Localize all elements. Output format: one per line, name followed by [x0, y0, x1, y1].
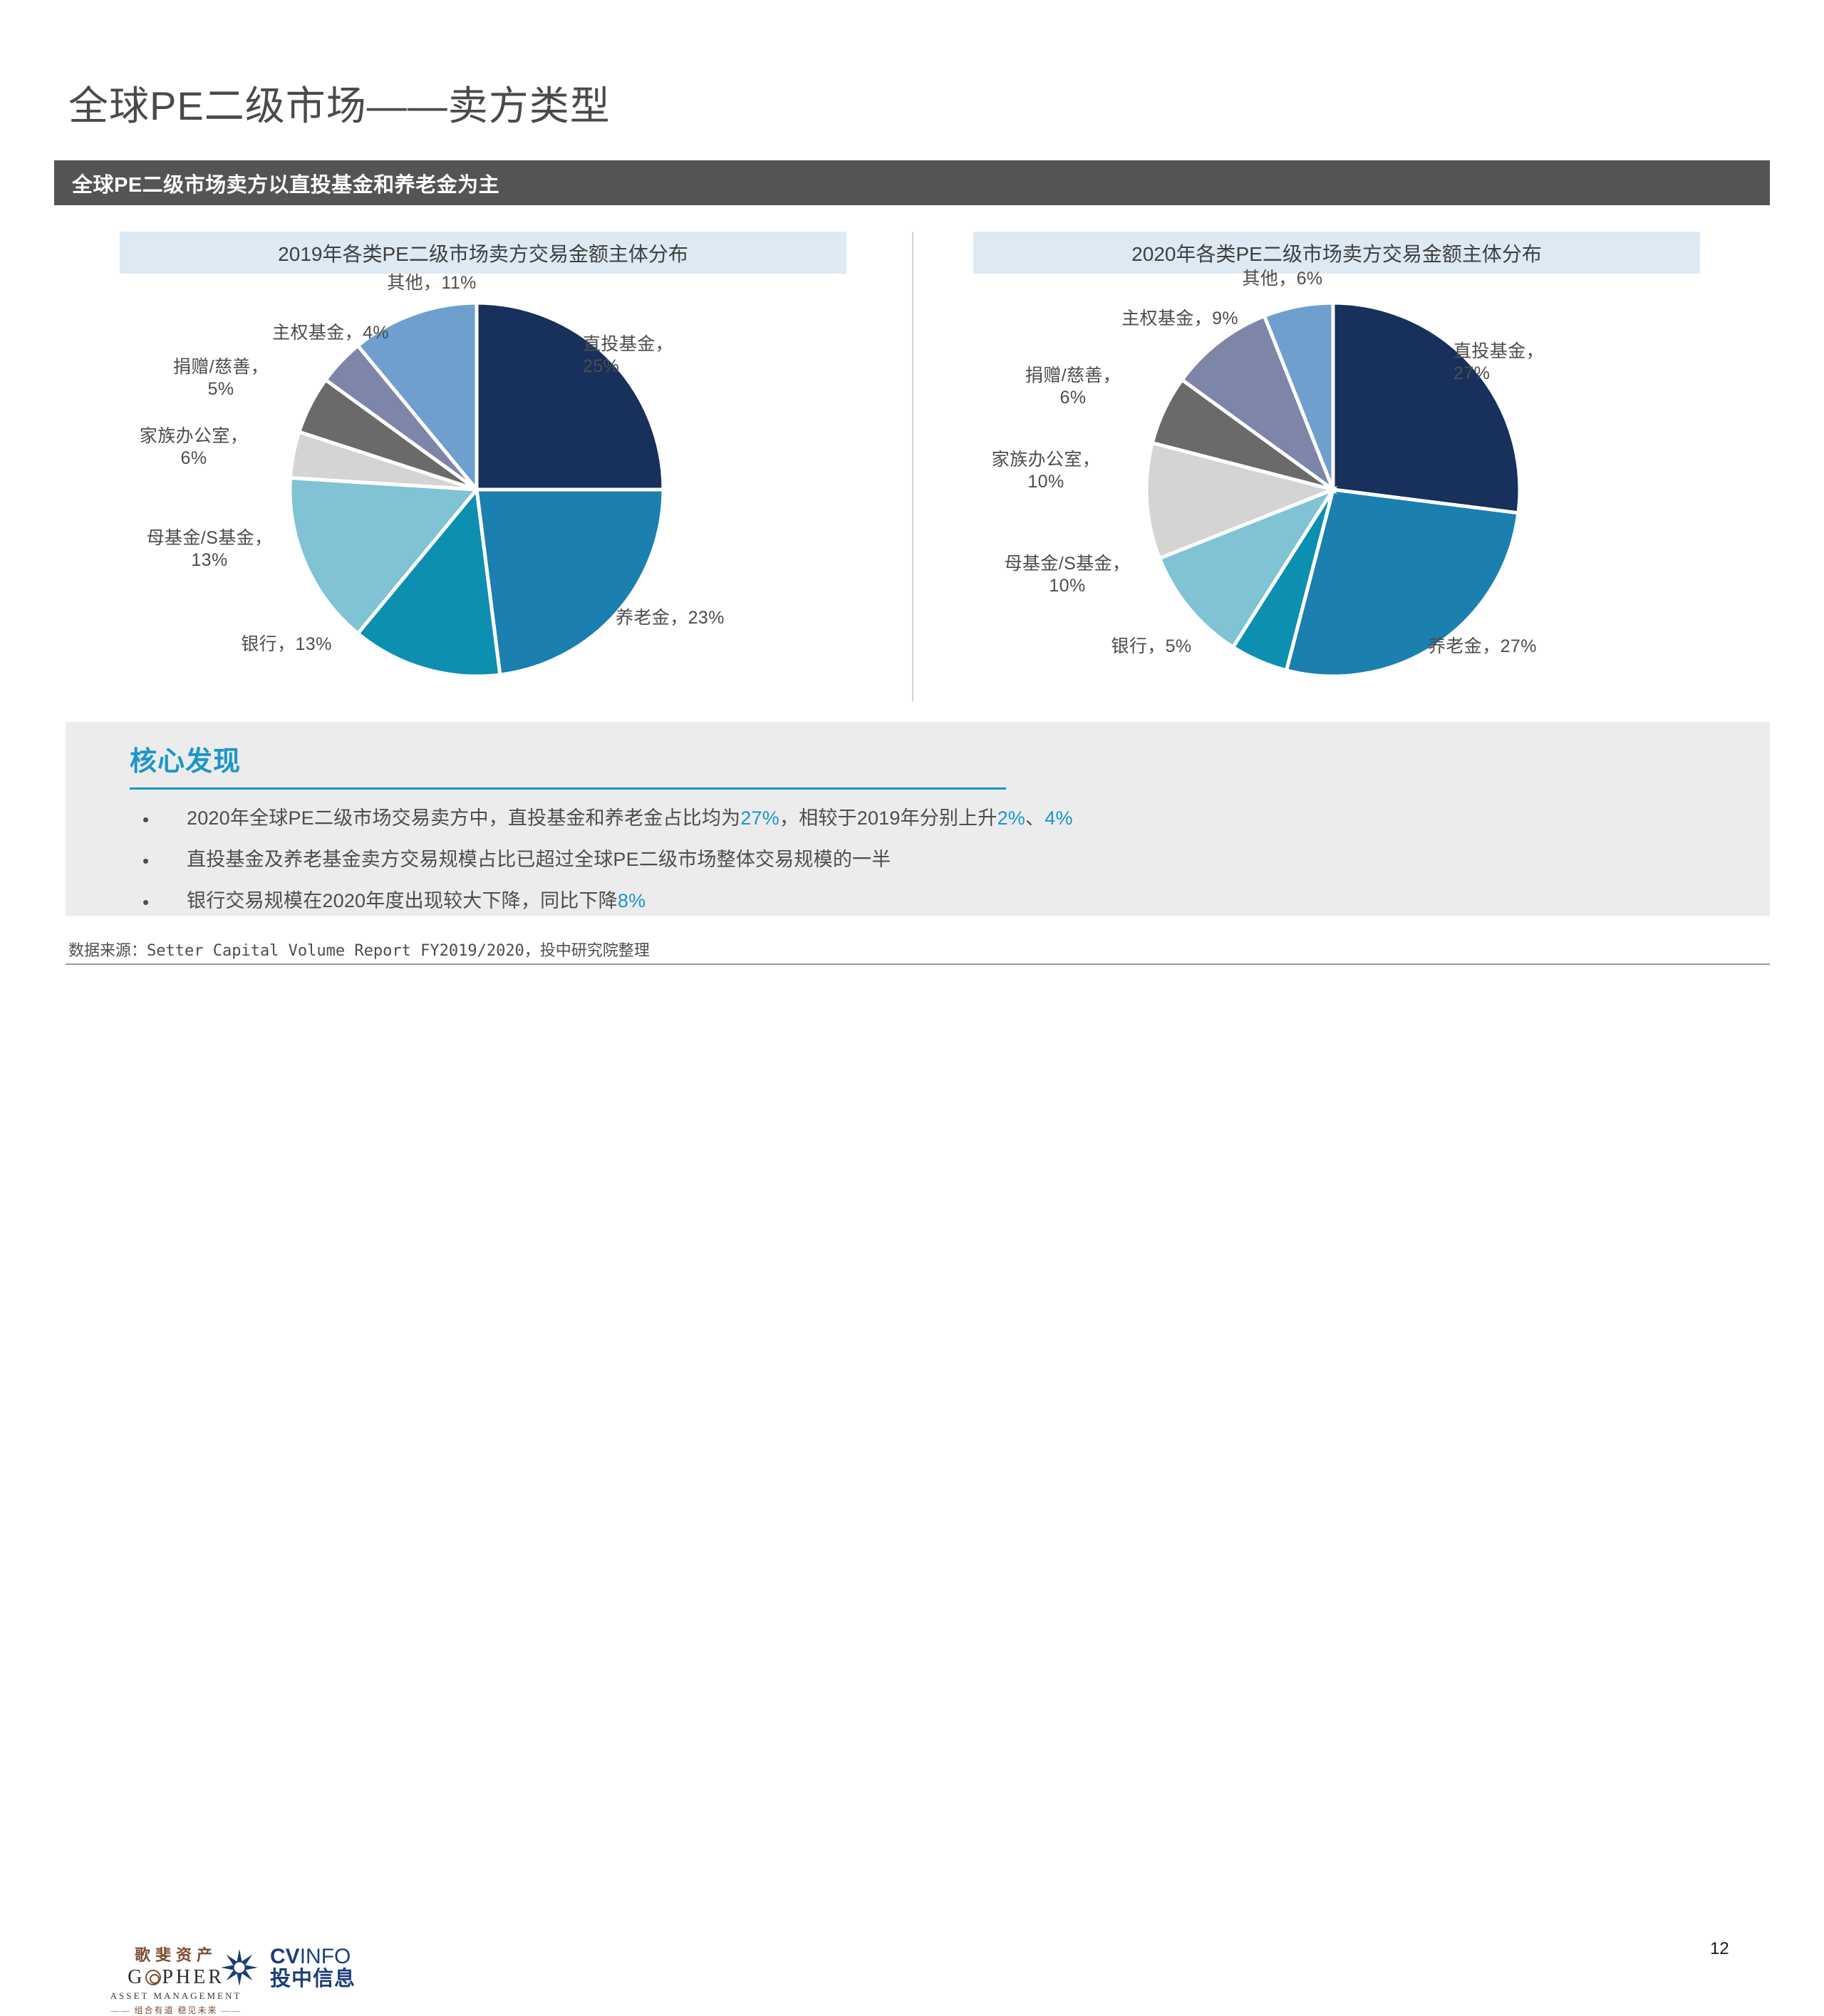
highlight-value: 2%	[997, 807, 1025, 829]
gopher-logo-en-before: G	[128, 1966, 145, 1989]
findings-bullet-item: •2020年全球PE二级市场交易卖方中，直投基金和养老金占比均为27%，相较于2…	[142, 806, 1731, 847]
pie-label-2020-direct: 直投基金， 27%	[1453, 341, 1667, 386]
pie-label-2019-sovereign: 主权基金，4%	[104, 322, 389, 344]
source-divider	[66, 963, 1770, 965]
pie-slice-direct	[1333, 303, 1520, 513]
charts-container: 2019年各类PE二级市场卖方交易金额主体分布	[54, 232, 1770, 716]
chart-2020: 2020年各类PE二级市场卖方交易金额主体分布	[925, 232, 1770, 716]
pie-label-2019-fof: 母基金/S基金， 13%	[88, 527, 331, 572]
findings-underline	[130, 787, 1006, 790]
pie-label-2020-bank: 银行，5%	[1052, 636, 1251, 658]
subtitle-band: 全球PE二级市场卖方以直投基金和养老金为主	[54, 160, 1770, 205]
chart-2019: 2019年各类PE二级市场卖方交易金额主体分布	[54, 232, 899, 716]
pie-slice-pension	[477, 490, 663, 675]
bullet-text-run: ，相较于2019年分别上升	[779, 807, 997, 829]
pie-label-2020-pension: 养老金，27%	[1428, 636, 1656, 658]
findings-panel: 核心发现 •2020年全球PE二级市场交易卖方中，直投基金和养老金占比均为27%…	[66, 722, 1770, 916]
pie-label-2020-fof: 母基金/S基金， 10%	[946, 553, 1188, 598]
cvinfo-logo-cv: CV	[270, 1945, 300, 1968]
pie-label-2020-endowment: 捐赠/慈善， 6%	[966, 365, 1180, 410]
pie-label-2019-other: 其他，11%	[353, 272, 510, 294]
bullet-text-run: 银行交易规模在2020年度出现较大下降，同比下降	[187, 890, 618, 911]
gopher-logo-assetmgmt: ASSET MANAGEMENT	[87, 1990, 265, 2002]
pie-label-2020-family-office: 家族办公室， 10%	[932, 449, 1160, 494]
chart-2020-header-text: 2020年各类PE二级市场卖方交易金额主体分布	[1131, 239, 1542, 267]
gopher-spiral-icon	[145, 1970, 161, 1985]
bullet-marker-icon: •	[142, 806, 187, 832]
pie-slice-direct	[477, 303, 663, 490]
cvinfo-logo-row1: CVINFO	[270, 1945, 356, 1968]
cvinfo-logo-info: INFO	[300, 1945, 351, 1968]
page-number: 12	[1710, 1939, 1729, 1959]
cvinfo-logo-text: CVINFO 投中信息	[270, 1945, 356, 1990]
page-title: 全球PE二级市场——卖方类型	[68, 74, 611, 132]
pie-label-2020-other: 其他，6%	[1204, 268, 1361, 290]
bullet-marker-icon: •	[142, 847, 187, 873]
bullet-text-run: 直投基金及养老基金卖方交易规模占比已超过全球PE二级市场整体交易规模的一半	[187, 849, 891, 870]
data-source-note: 数据来源：Setter Capital Volume Report FY2019…	[68, 938, 650, 961]
findings-bullet-text: 2020年全球PE二级市场交易卖方中，直投基金和养老金占比均为27%，相较于20…	[187, 806, 1073, 831]
pie-label-2019-family-office: 家族办公室， 6%	[80, 425, 308, 470]
subtitle-text: 全球PE二级市场卖方以直投基金和养老金为主	[72, 168, 499, 198]
chart-2019-plot: 其他，11% 主权基金，4% 捐赠/慈善， 5% 家族办公室， 6% 母基金/S…	[54, 274, 899, 701]
highlight-value: 4%	[1045, 807, 1072, 829]
gopher-logo-en-after: PHER	[162, 1966, 224, 1989]
chart-2019-header-text: 2019年各类PE二级市场卖方交易金额主体分布	[278, 239, 688, 267]
pie-label-2019-direct: 直投基金， 25%	[583, 334, 797, 378]
findings-bullet-item: •直投基金及养老基金卖方交易规模占比已超过全球PE二级市场整体交易规模的一半	[142, 847, 1731, 889]
findings-bullet-list: •2020年全球PE二级市场交易卖方中，直投基金和养老金占比均为27%，相较于2…	[142, 806, 1731, 930]
bullet-marker-icon: •	[142, 889, 187, 914]
bullet-text-run: 2020年全球PE二级市场交易卖方中，直投基金和养老金占比均为	[187, 807, 740, 829]
cvinfo-logo: CVINFO 投中信息	[217, 1945, 356, 1990]
gopher-logo-tagline: —— 组合有道 稳见未来 ——	[87, 2004, 265, 2016]
findings-bullet-text: 直投基金及养老基金卖方交易规模占比已超过全球PE二级市场整体交易规模的一半	[187, 847, 891, 872]
findings-bullet-text: 银行交易规模在2020年度出现较大下降，同比下降8%	[187, 889, 646, 914]
pie-label-2020-sovereign: 主权基金，9%	[953, 308, 1238, 330]
bullet-text-run: 、	[1025, 807, 1045, 829]
slide-footer: 歌斐资产 G PHER ASSET MANAGEMENT —— 组合有道 稳见未…	[0, 968, 1824, 1026]
pie-label-2019-bank: 银行，13%	[187, 634, 386, 656]
pie-label-2019-pension: 养老金，23%	[616, 607, 844, 629]
pie-label-2019-endowment: 捐赠/慈善， 5%	[114, 356, 328, 401]
chart-2020-plot: 其他，6% 主权基金，9% 捐赠/慈善， 6% 家族办公室， 10% 母基金/S…	[925, 274, 1770, 701]
highlight-value: 8%	[618, 890, 646, 911]
findings-bullet-item: •银行交易规模在2020年度出现较大下降，同比下降8%	[142, 889, 1731, 930]
highlight-value: 27%	[740, 807, 779, 829]
chart-divider	[912, 232, 913, 702]
chart-2019-header: 2019年各类PE二级市场卖方交易金额主体分布	[120, 232, 846, 274]
cvinfo-logo-row2: 投中信息	[270, 1968, 356, 1990]
findings-title: 核心发现	[130, 739, 241, 778]
cvinfo-burst-icon	[217, 1945, 261, 1990]
